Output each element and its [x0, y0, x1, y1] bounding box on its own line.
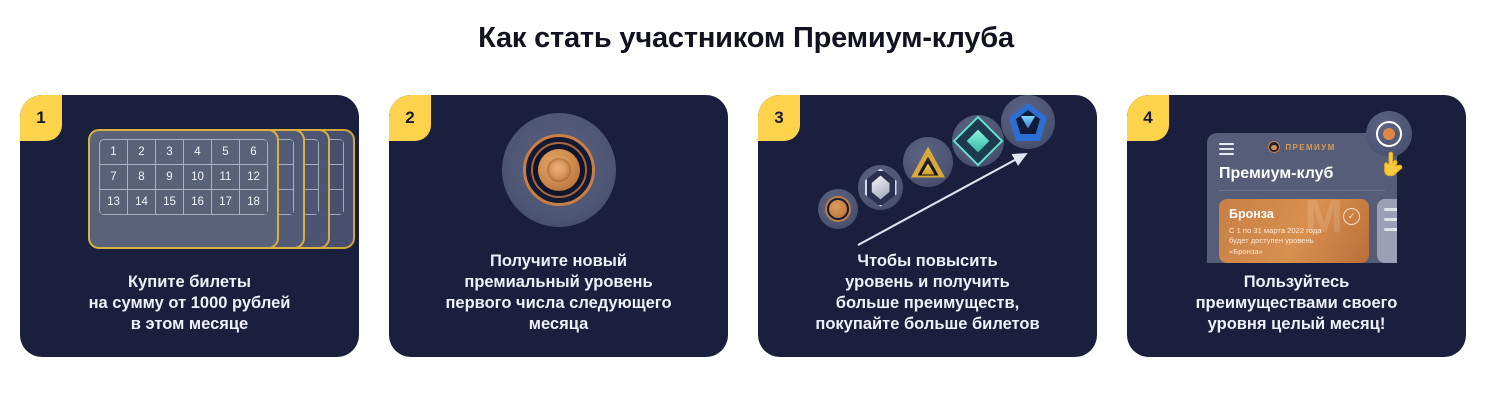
ticket-stack: 60 66 72: [88, 129, 338, 249]
avatar-ring: [1376, 121, 1402, 147]
diamond-pentagon-inner: [1016, 110, 1040, 134]
lottery-ticket-stack-art: 60 66 72: [20, 95, 359, 263]
phone-screen-title: Премиум-клуб: [1207, 163, 1397, 183]
step-card-2: 2 Получите новый премиальный уровень пер…: [389, 95, 728, 357]
level-badge-bronze: [818, 189, 858, 229]
caption-line: покупайте больше билетов: [766, 314, 1089, 335]
caption-line: в этом месяце: [28, 314, 351, 335]
step-card-4: 4 ПРЕМИУМ Премиум-клуб M Бр: [1127, 95, 1466, 357]
ticket-cell: 14: [128, 190, 156, 215]
step-caption-1: Купите билеты на сумму от 1000 рублей в …: [28, 272, 351, 335]
phone-mockup: ПРЕМИУМ Премиум-клуб M Бронза С 1 по 31 …: [1207, 133, 1397, 263]
phone-divider: [1219, 190, 1385, 191]
level-card-next[interactable]: [1377, 199, 1397, 263]
ticket-cell: 13: [100, 190, 128, 215]
gold-triangle-icon: [911, 147, 945, 178]
ticket-cell: 7: [100, 165, 128, 190]
check-icon: ✓: [1343, 208, 1360, 225]
level-card-bronze[interactable]: M Бронза С 1 по 31 марта 2022 года будет…: [1219, 199, 1369, 263]
ticket-cell: 16: [184, 190, 212, 215]
diamond-pentagon-icon: [1009, 103, 1047, 141]
step-caption-3: Чтобы повысить уровень и получить больше…: [766, 251, 1089, 335]
ticket-cell: 2: [128, 140, 156, 165]
ticket-cell: 17: [212, 190, 240, 215]
step-number-badge-2: 2: [389, 95, 431, 141]
level-badge-silver: [858, 165, 903, 210]
ticket-cell: 8: [128, 165, 156, 190]
caption-line: на сумму от 1000 рублей: [28, 293, 351, 314]
pointing-hand-cursor-icon: [1379, 149, 1407, 181]
caption-line: Получите новый: [397, 251, 720, 272]
caption-line: Купите билеты: [28, 272, 351, 293]
premium-logo-text: ПРЕМИУМ: [1285, 143, 1335, 152]
level-badge-gold: [903, 137, 953, 187]
page-title: Как стать участником Премиум-клуба: [0, 22, 1492, 55]
level-cards-carousel[interactable]: M Бронза С 1 по 31 марта 2022 года будет…: [1219, 199, 1397, 263]
caption-line: Пользуйтесь: [1135, 272, 1458, 293]
mobile-app-mockup-art: ПРЕМИУМ Премиум-клуб M Бронза С 1 по 31 …: [1127, 95, 1466, 263]
caption-line: уровня целый месяц!: [1135, 314, 1458, 335]
level-badge-emerald: [952, 115, 1004, 167]
caption-line: преимуществами своего: [1135, 293, 1458, 314]
caption-line: Чтобы повысить: [766, 251, 1089, 272]
ticket-cell: 5: [212, 140, 240, 165]
level-progression-art: [758, 95, 1097, 263]
ticket-cell: 3: [156, 140, 184, 165]
bronze-medallion-art: [389, 95, 728, 263]
ticket-cell: 4: [184, 140, 212, 165]
step-number-badge-4: 4: [1127, 95, 1169, 141]
ticket-cell: 15: [156, 190, 184, 215]
silver-hexagon-inner: [872, 176, 890, 200]
ticket-cell: 6: [240, 140, 268, 165]
caption-line: месяца: [397, 314, 720, 335]
diamond-gem-icon: [1021, 116, 1036, 129]
ticket-front-grid: 1 2 3 4 5 6 7 8 9 10 11 12 13 14: [99, 139, 268, 215]
caption-line: больше преимуществ,: [766, 293, 1089, 314]
level-card-description: С 1 по 31 марта 2022 года будет доступен…: [1229, 226, 1335, 257]
caption-line: премиальный уровень: [397, 272, 720, 293]
gold-triangle-inner: [918, 157, 939, 176]
step-caption-2: Получите новый премиальный уровень перво…: [397, 251, 720, 335]
level-card-next-placeholder: [1384, 208, 1397, 238]
bronze-circle-icon: [827, 198, 849, 220]
steps-container: 1 60 66 72: [20, 95, 1478, 357]
step-caption-4: Пользуйтесь преимуществами своего уровня…: [1135, 272, 1458, 335]
ticket-cell: 9: [156, 165, 184, 190]
medallion-icon: [502, 113, 616, 227]
ticket-cell: 10: [184, 165, 212, 190]
medallion-core: [538, 149, 580, 191]
ticket-front: 1 2 3 4 5 6 7 8 9 10 11 12 13 14: [88, 129, 279, 249]
emerald-diamond-icon: [953, 116, 1004, 167]
premium-logo-icon: [1268, 141, 1280, 153]
silver-hexagon-icon: [865, 169, 897, 207]
step-card-1: 1 60 66 72: [20, 95, 359, 357]
ticket-cell: 11: [212, 165, 240, 190]
ticket-cell: 18: [240, 190, 268, 215]
step-number-badge-1: 1: [20, 95, 62, 141]
caption-line: первого числа следующего: [397, 293, 720, 314]
emerald-diamond-inner: [967, 130, 990, 153]
step-number-badge-3: 3: [758, 95, 800, 141]
level-badge-diamond: [1001, 95, 1055, 149]
level-card-title: Бронза: [1229, 207, 1274, 221]
caption-line: уровень и получить: [766, 272, 1089, 293]
avatar-dot: [1383, 128, 1395, 140]
step-card-3: 3: [758, 95, 1097, 357]
ticket-cell: 1: [100, 140, 128, 165]
ticket-cell: 12: [240, 165, 268, 190]
